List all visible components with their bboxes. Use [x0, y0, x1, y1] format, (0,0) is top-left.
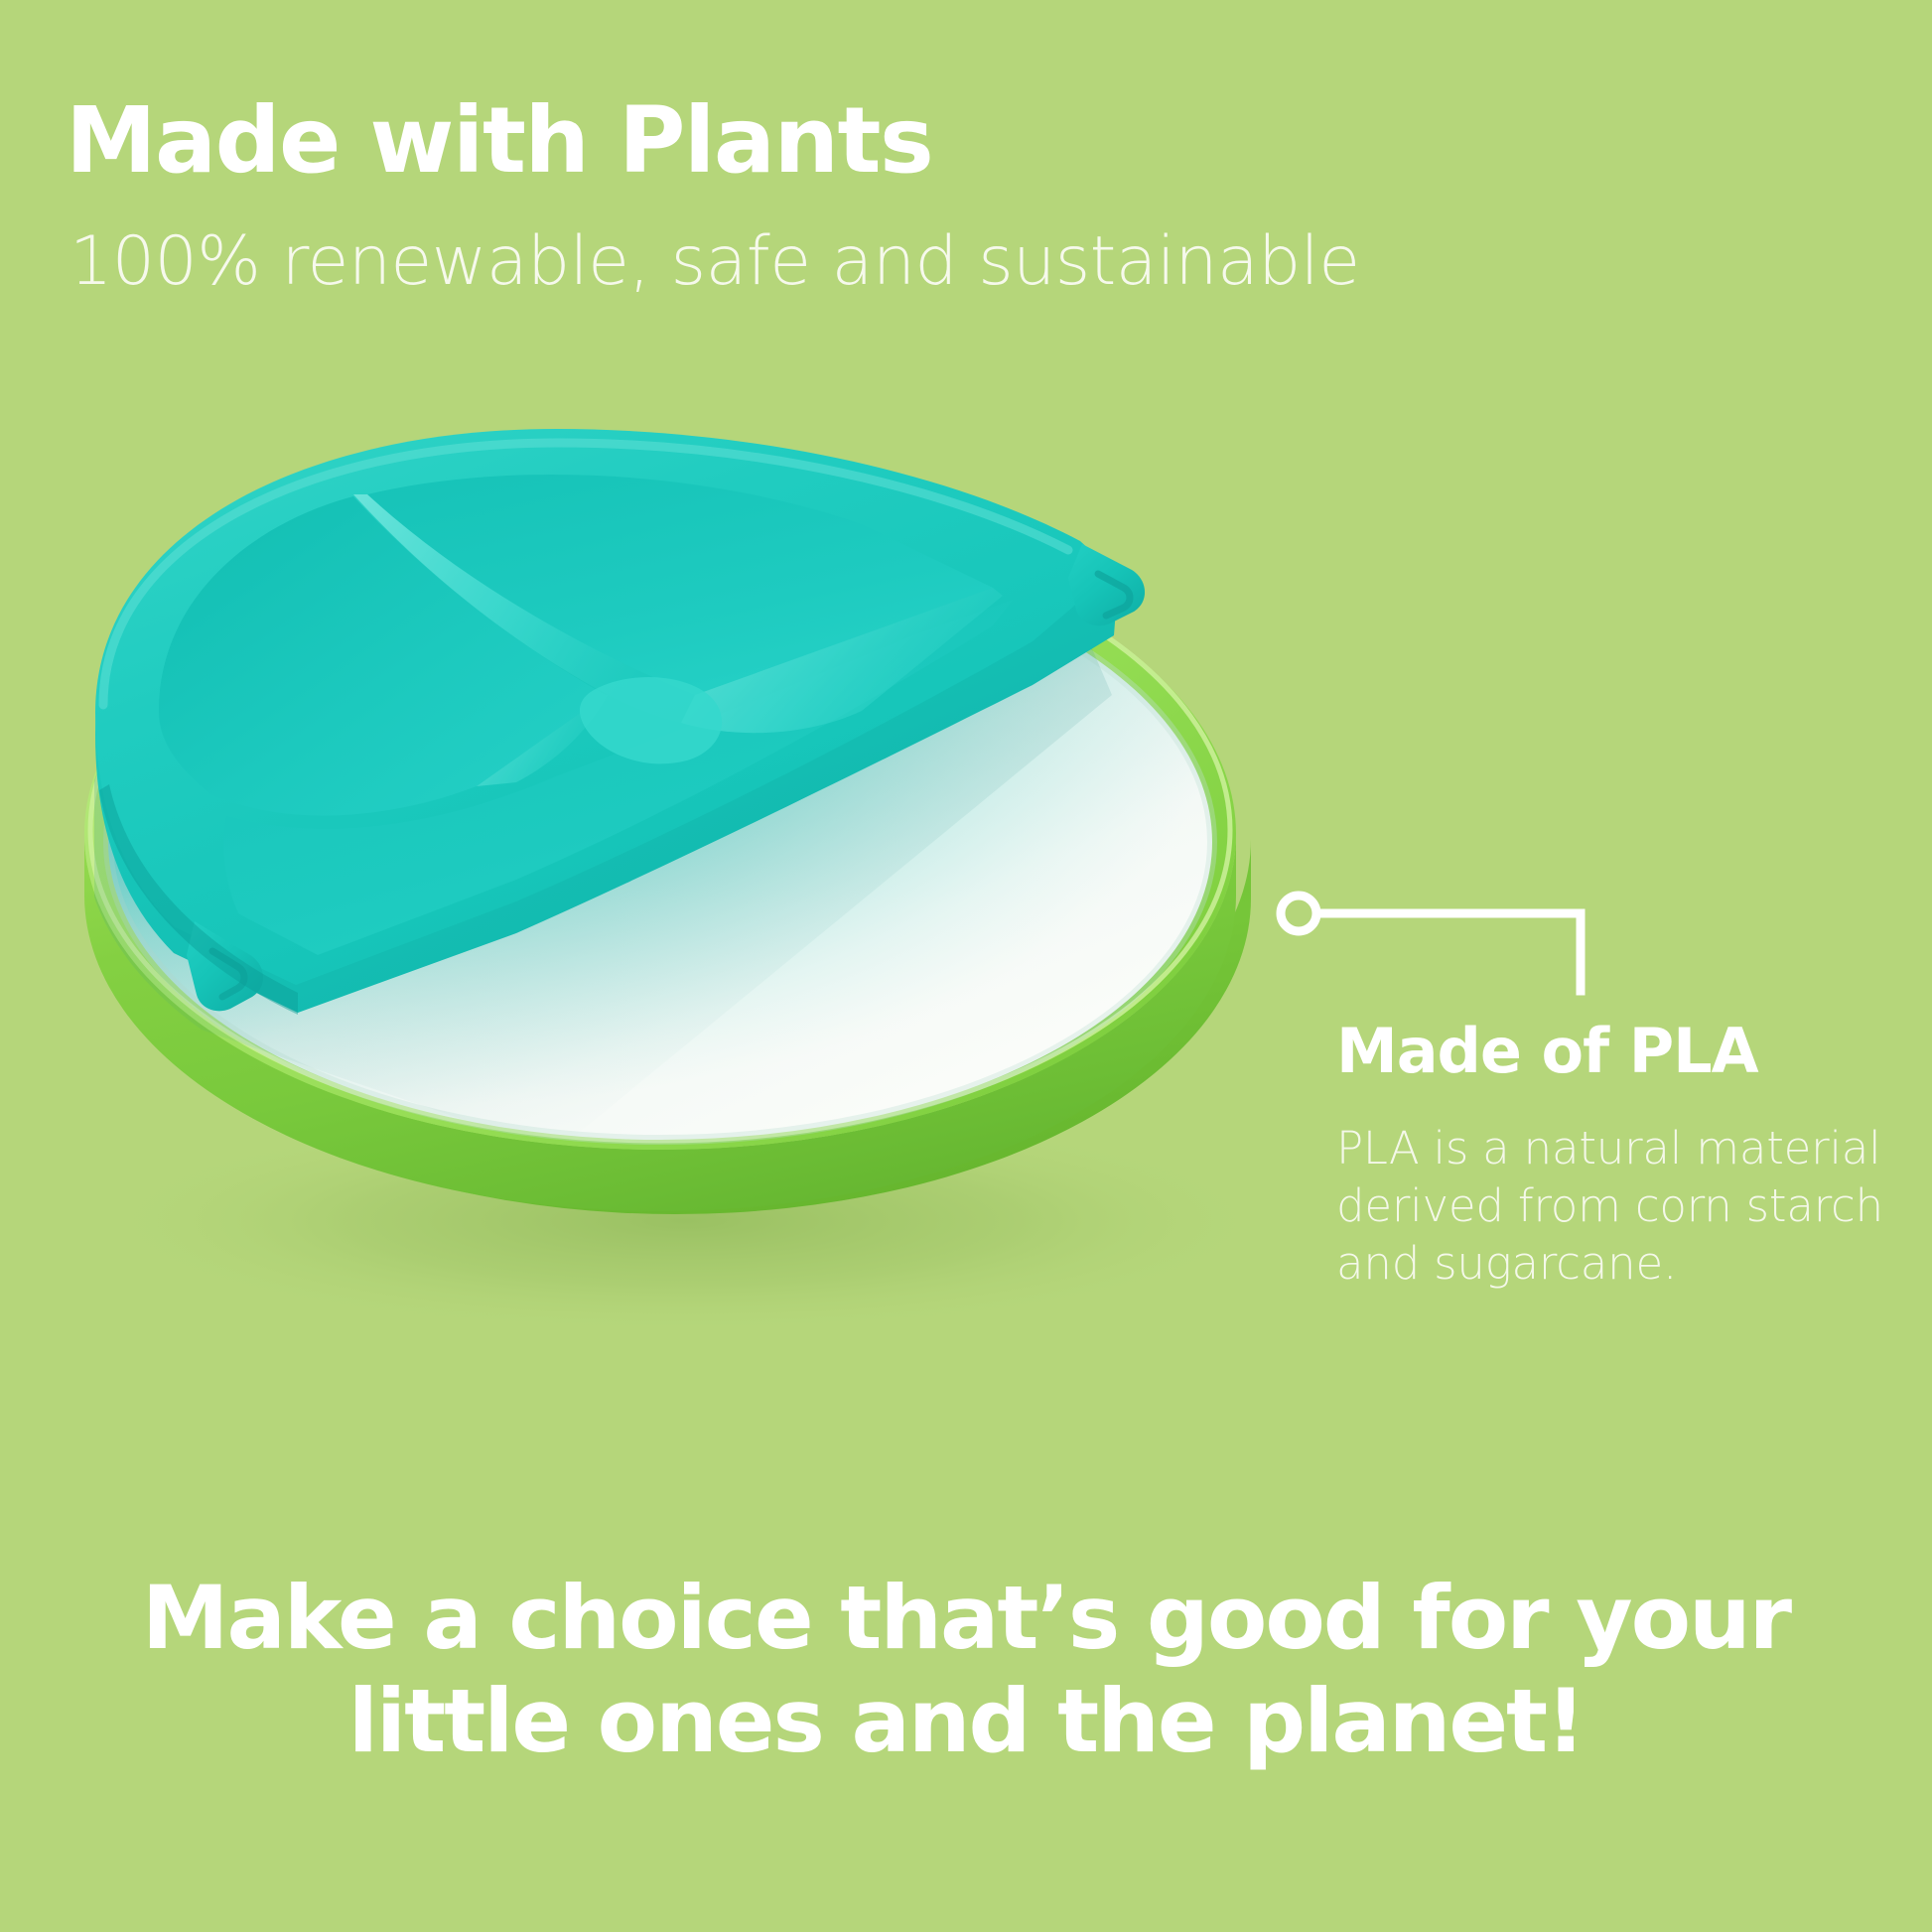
product-feature-image: Made with Plants 100% renewable, safe an…	[0, 0, 1932, 1932]
leader-line-path	[1316, 913, 1581, 991]
footer-tagline: Make a choice that’s good for your littl…	[0, 1567, 1932, 1773]
footer-tagline-line-2: little ones and the planet!	[0, 1670, 1932, 1773]
callout-leader-line	[1281, 896, 1581, 991]
pla-callout: Made of PLA PLA is a natural material de…	[1336, 1021, 1892, 1293]
callout-title: Made of PLA	[1336, 1021, 1892, 1082]
page-subtitle: 100% renewable, safe and sustainable	[69, 228, 1360, 296]
page-title: Made with Plants	[66, 95, 932, 187]
callout-anchor-circle	[1281, 896, 1316, 931]
callout-body: PLA is a natural material derived from c…	[1336, 1120, 1912, 1293]
footer-tagline-line-1: Make a choice that’s good for your	[0, 1567, 1932, 1670]
